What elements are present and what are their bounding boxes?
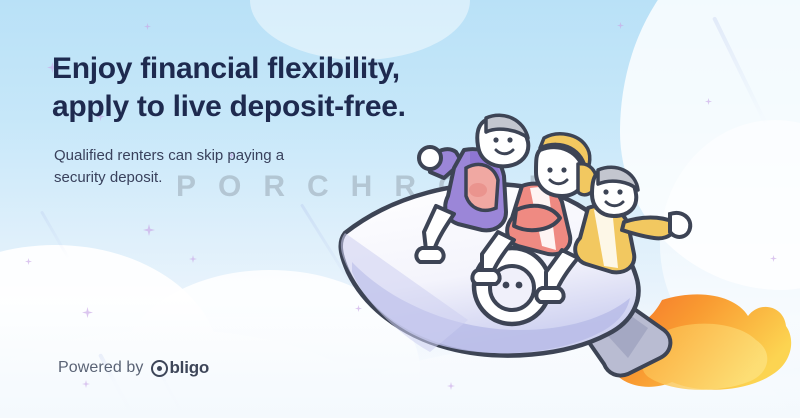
subheadline-line-1: Qualified renters can skip paying a xyxy=(54,145,384,167)
obligo-logo: bligo xyxy=(151,358,210,378)
promo-banner: PORCHROOM xyxy=(0,0,800,418)
obligo-circle-icon xyxy=(151,360,168,377)
powered-by-label: Powered by xyxy=(58,359,144,377)
headline-line-1: Enjoy financial flexibility, xyxy=(52,50,472,88)
obligo-wordmark: bligo xyxy=(170,358,210,378)
obligo-dot-icon xyxy=(157,366,162,371)
subheadline-line-2: security deposit. xyxy=(54,167,384,189)
subheadline: Qualified renters can skip paying a secu… xyxy=(54,145,384,189)
headline-line-2: apply to live deposit-free. xyxy=(52,88,472,126)
powered-by-block: Powered by bligo xyxy=(58,358,209,378)
banner-content: Enjoy financial flexibility, apply to li… xyxy=(0,0,800,418)
headline: Enjoy financial flexibility, apply to li… xyxy=(52,50,472,126)
